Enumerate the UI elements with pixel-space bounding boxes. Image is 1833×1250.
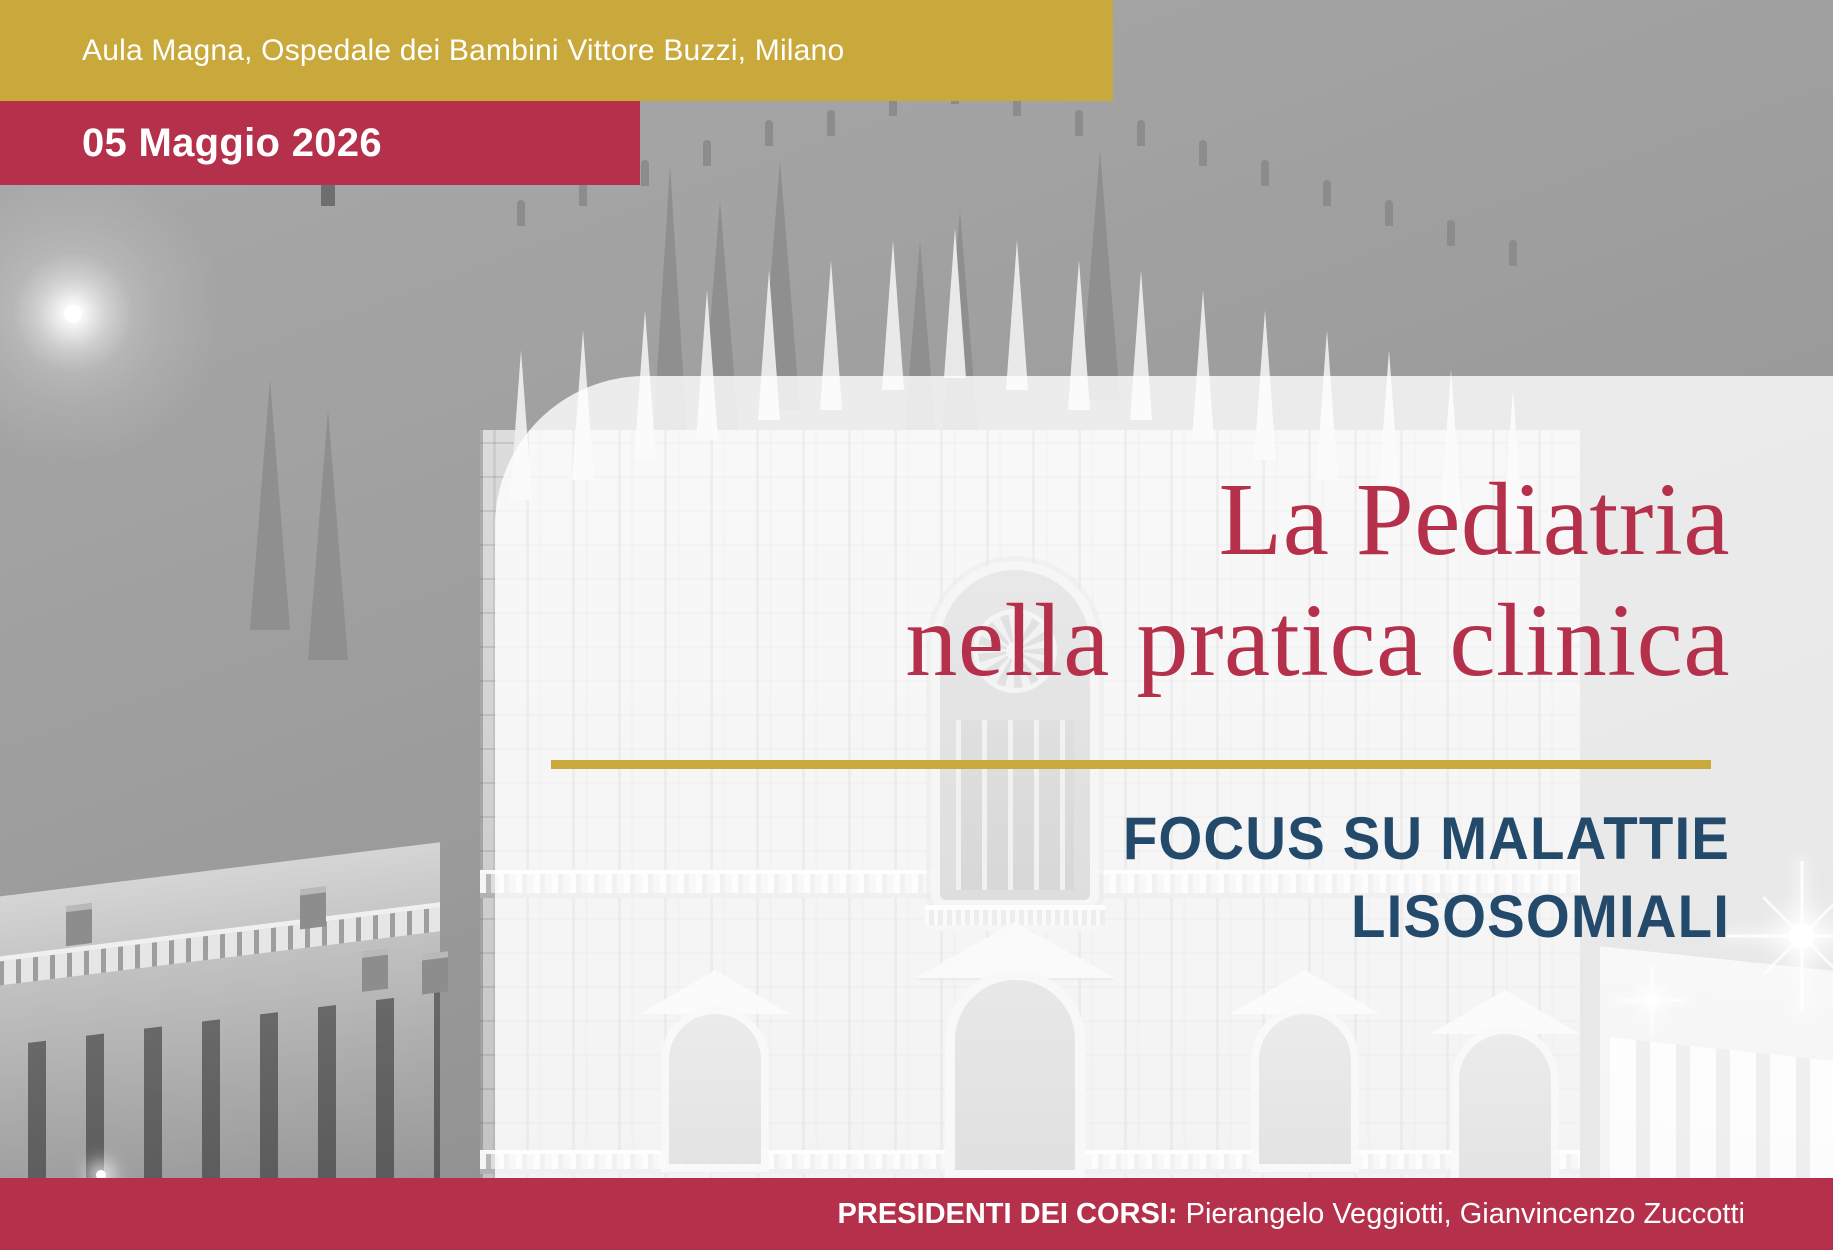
event-poster: Aula Magna, Ospedale dei Bambini Vittore… — [0, 0, 1833, 1250]
title-line-2: nella pratica clinica — [440, 581, 1730, 702]
main-title: La Pediatria nella pratica clinica — [440, 460, 1730, 701]
date-bar: 05 Maggio 2026 — [0, 101, 640, 185]
left-tower-b — [308, 410, 348, 660]
date-text: 05 Maggio 2026 — [0, 121, 382, 166]
presidents-text: PRESIDENTI DEI CORSI: Pierangelo Veggiot… — [838, 1198, 1833, 1231]
subtitle-line-1: FOCUS SU MALATTIE — [508, 800, 1730, 878]
subtitle-line-2: LISOSOMIALI — [508, 878, 1730, 956]
presidents-names: Pierangelo Veggiotti, Gianvincenzo Zucco… — [1178, 1198, 1745, 1230]
left-tower-a — [250, 380, 290, 630]
sun-glow — [64, 305, 82, 323]
presidents-label: PRESIDENTI DEI CORSI: — [838, 1198, 1178, 1230]
presidents-bar: PRESIDENTI DEI CORSI: Pierangelo Veggiot… — [0, 1178, 1833, 1250]
venue-bar: Aula Magna, Ospedale dei Bambini Vittore… — [0, 0, 1113, 101]
gold-divider-rule — [551, 760, 1711, 769]
venue-text: Aula Magna, Ospedale dei Bambini Vittore… — [0, 34, 844, 68]
subtitle: FOCUS SU MALATTIE LISOSOMIALI — [508, 800, 1730, 956]
title-line-1: La Pediatria — [440, 460, 1730, 581]
